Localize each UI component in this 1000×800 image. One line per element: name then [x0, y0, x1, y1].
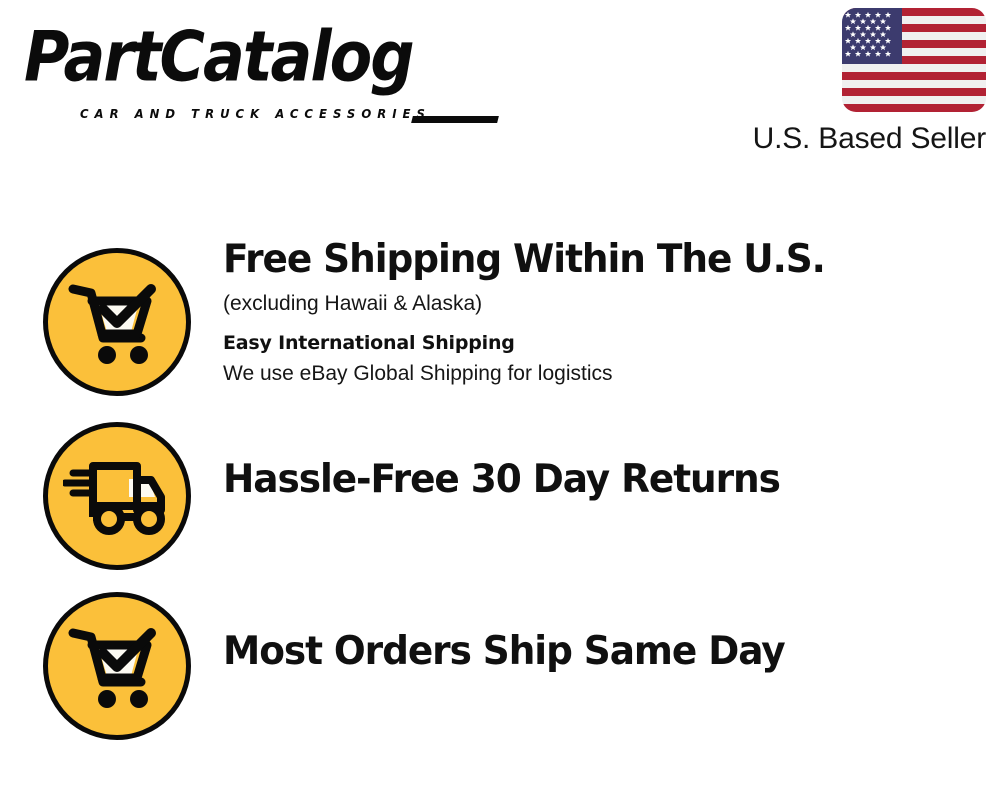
feature-text-block: Most Orders Ship Same Day [223, 574, 1000, 676]
feature-sub-note: We use eBay Global Shipping for logistic… [223, 358, 1000, 390]
us-flag-icon [842, 8, 986, 112]
brand-logo[interactable]: PartCatalog CAR AND TRUCK ACCESSORIES [24, 18, 494, 118]
feature-title: Hassle-Free 30 Day Returns [223, 456, 969, 504]
feature-row: Hassle-Free 30 Day Returns [0, 404, 1000, 574]
delivery-truck-icon [43, 422, 191, 570]
feature-text-block: Free Shipping Within The U.S. (excluding… [223, 232, 1000, 390]
shopping-cart-check-icon [43, 592, 191, 740]
feature-note: (excluding Hawaii & Alaska) [223, 288, 1000, 320]
feature-sub-title: Easy International Shipping [223, 328, 1000, 358]
feature-row: Most Orders Ship Same Day [0, 574, 1000, 744]
brand-wordmark: PartCatalog [24, 18, 494, 96]
page-header: PartCatalog CAR AND TRUCK ACCESSORIES [0, 0, 1000, 170]
feature-row: Free Shipping Within The U.S. (excluding… [0, 232, 1000, 410]
brand-tagline: CAR AND TRUCK ACCESSORIES [80, 107, 431, 121]
flag-stars-icon [842, 8, 902, 64]
feature-text-block: Hassle-Free 30 Day Returns [223, 404, 1000, 504]
us-based-seller-block: U.S. Based Seller [706, 8, 986, 157]
brand-underline-swoosh [411, 116, 499, 123]
feature-title: Free Shipping Within The U.S. [223, 236, 969, 284]
shopping-cart-check-icon [43, 248, 191, 396]
seller-label: U.S. Based Seller [706, 121, 986, 157]
feature-title: Most Orders Ship Same Day [223, 628, 969, 676]
